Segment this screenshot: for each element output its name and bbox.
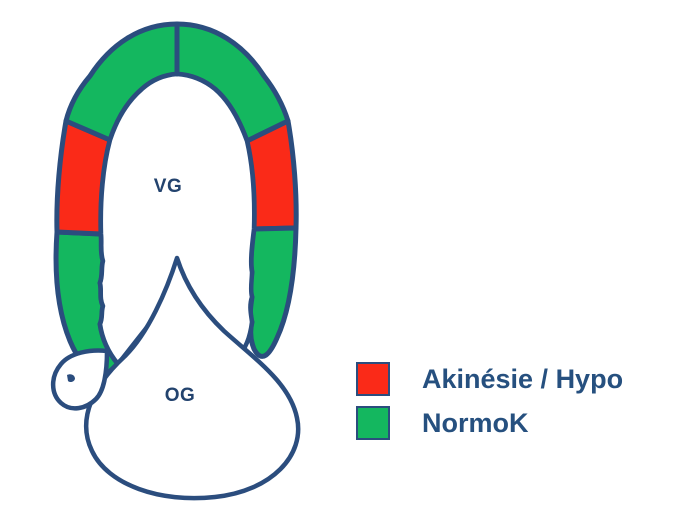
legend-item-akinesie[interactable]: Akinésie / Hypo [356, 360, 656, 398]
legend-item-normok[interactable]: NormoK [356, 404, 656, 442]
vg-label: VG [154, 176, 182, 197]
legend-swatch-akinesie [356, 362, 390, 396]
heart-diagram: VG OG [0, 0, 345, 516]
legend-label-akinesie: Akinésie / Hypo [422, 366, 623, 393]
og-label: OG [165, 385, 196, 406]
legend-swatch-normok [356, 406, 390, 440]
figure-root: VG OG Akinésie / Hypo NormoK [0, 0, 690, 516]
legend: Akinésie / Hypo NormoK [356, 360, 656, 442]
wall-segment-basal-right[interactable] [250, 228, 296, 356]
legend-label-normok: NormoK [422, 410, 529, 437]
